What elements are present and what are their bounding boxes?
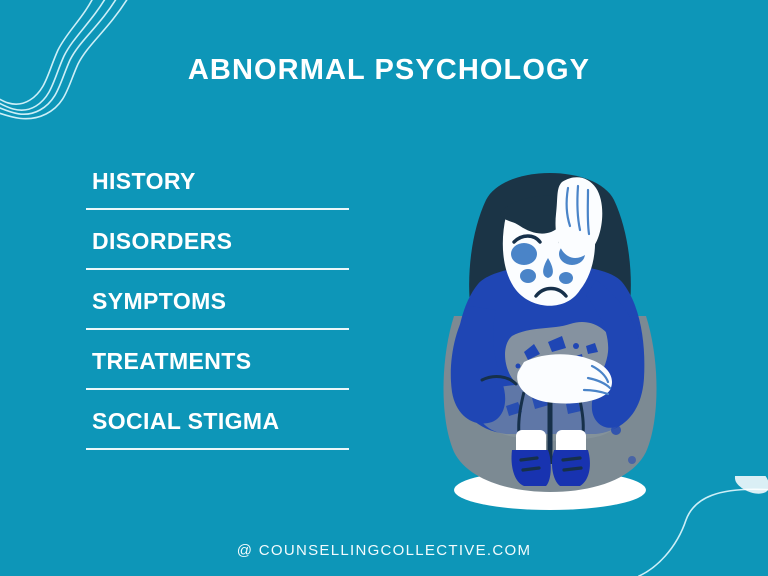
list-item[interactable]: SYMPTOMS [86,288,349,348]
poster-canvas: ABNORMAL PSYCHOLOGY HISTORY DISORDERS SY… [0,0,768,576]
sad-woman-crying-illustration [420,130,680,510]
topic-list: HISTORY DISORDERS SYMPTOMS TREATMENTS SO… [86,168,349,468]
tear-blob-lower-right [559,272,573,284]
list-item[interactable]: HISTORY [86,168,349,228]
list-item[interactable]: SOCIAL STIGMA [86,408,349,468]
topic-divider [86,268,349,270]
topic-divider [86,448,349,450]
list-item[interactable]: DISORDERS [86,228,349,288]
topic-label-symptoms: SYMPTOMS [92,288,226,314]
topic-divider [86,388,349,390]
tear-blob-left [511,243,537,265]
topic-divider [86,328,349,330]
topic-label-social-stigma: SOCIAL STIGMA [92,408,280,434]
page-title: ABNORMAL PSYCHOLOGY [0,56,768,85]
footer-handle: @ COUNSELLINGCOLLECTIVE.COM [0,542,768,559]
topic-label-history: HISTORY [92,168,196,194]
list-item[interactable]: TREATMENTS [86,348,349,408]
tear-blob-lower-left [520,269,536,283]
topic-label-disorders: DISORDERS [92,228,232,254]
topic-label-treatments: TREATMENTS [92,348,251,374]
topic-divider [86,208,349,210]
